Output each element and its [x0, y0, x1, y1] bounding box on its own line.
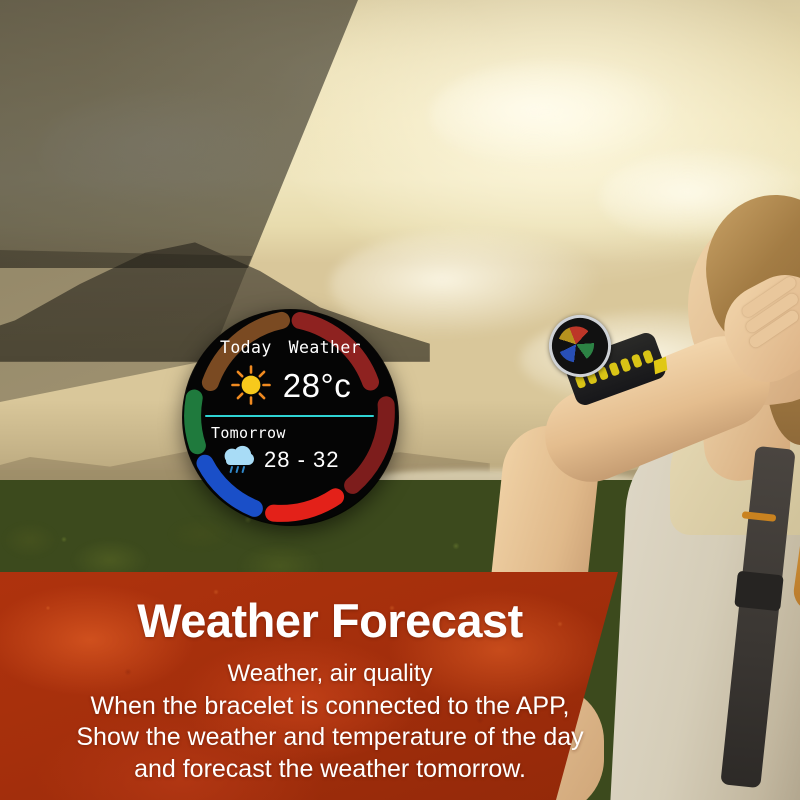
smartwatch-weather-face[interactable]: Today Weather — [183, 310, 398, 525]
screen-divider — [205, 415, 374, 417]
headline: Weather Forecast — [0, 596, 660, 645]
watch-screen: Today Weather — [205, 336, 376, 499]
ring-segment-bright-red — [274, 497, 336, 514]
today-weather-row: 28°c — [205, 364, 376, 406]
subline-4: and forecast the weather tomorrow. — [0, 754, 660, 786]
ring-segment-green — [193, 398, 198, 446]
subline-2: When the bracelet is connected to the AP… — [0, 691, 660, 723]
banner-copy: Weather Forecast Weather, air quality Wh… — [0, 596, 660, 785]
subline-3: Show the weather and temperature of the … — [0, 722, 660, 754]
rain-cloud-icon — [221, 445, 255, 475]
watch-header-row: Today Weather — [205, 338, 376, 357]
tomorrow-weather-row: 28 - 32 — [205, 445, 376, 475]
today-label: Today — [220, 338, 272, 357]
tomorrow-temperature-range: 28 - 32 — [264, 447, 340, 473]
tomorrow-label: Tomorrow — [205, 424, 376, 442]
today-temperature: 28°c — [283, 369, 351, 402]
weather-label: Weather — [289, 338, 361, 357]
screenshot-root: Today Weather — [0, 0, 800, 800]
sun-icon — [230, 364, 272, 406]
worn-watch-face — [553, 321, 600, 368]
subline-1: Weather, air quality — [0, 659, 660, 688]
strap-buckle — [734, 571, 784, 612]
